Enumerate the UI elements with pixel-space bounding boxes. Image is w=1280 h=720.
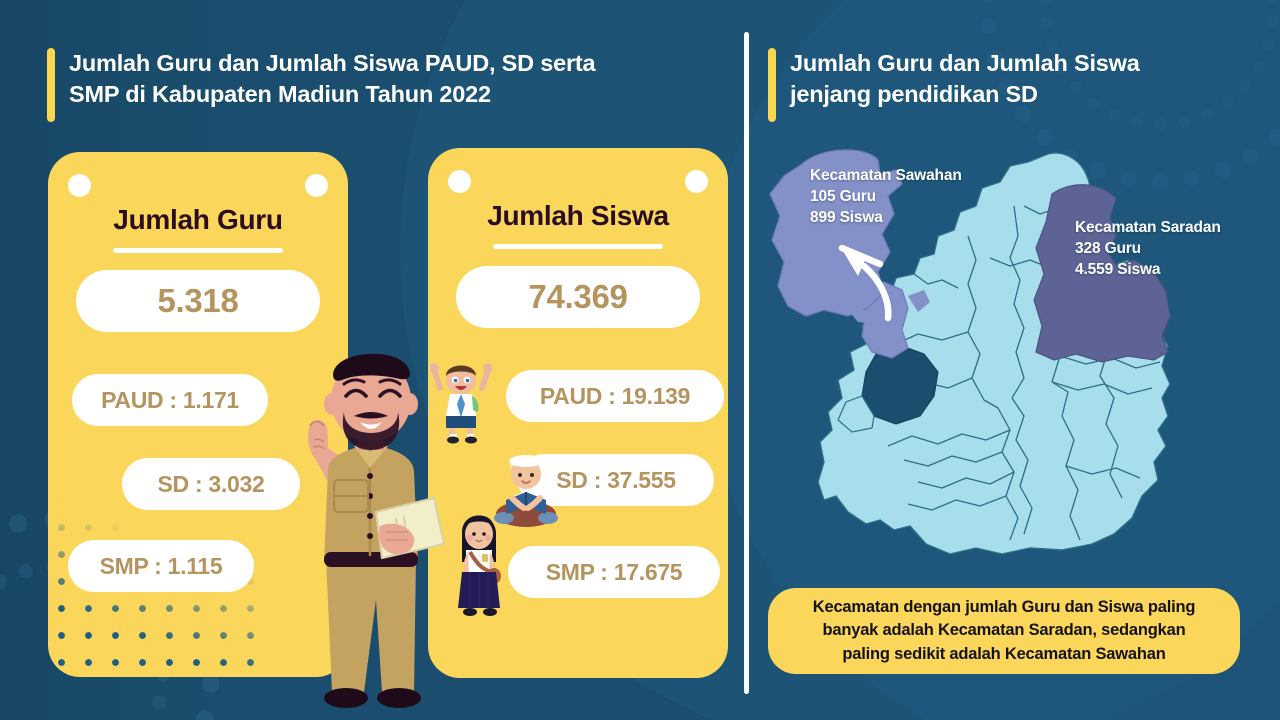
punch-hole-left-icon bbox=[68, 174, 91, 197]
panel-divider bbox=[744, 32, 749, 694]
siswa-paud-value: PAUD : 19.139 bbox=[506, 370, 724, 422]
right-panel-title-text: Jumlah Guru dan Jumlah Siswa jenjang pen… bbox=[790, 48, 1140, 111]
guru-smp-value: SMP : 1.115 bbox=[68, 540, 254, 592]
title-accent-bar bbox=[768, 48, 776, 122]
summary-note-box: Kecamatan dengan jumlah Guru dan Siswa p… bbox=[768, 588, 1240, 674]
madiun-district-map: Kecamatan Sawahan 105 Guru 899 Siswa Kec… bbox=[762, 140, 1272, 580]
title-accent-bar bbox=[47, 48, 55, 122]
map-label-saradan: Kecamatan Saradan 328 Guru 4.559 Siswa bbox=[1075, 218, 1221, 281]
right-panel-title: Jumlah Guru dan Jumlah Siswa jenjang pen… bbox=[768, 48, 1238, 122]
card-heading-underline bbox=[493, 244, 663, 249]
student-girl-illustration bbox=[448, 508, 510, 618]
map-label-sawahan: Kecamatan Sawahan 105 Guru 899 Siswa bbox=[810, 166, 962, 229]
left-panel-title: Jumlah Guru dan Jumlah Siswa PAUD, SD se… bbox=[47, 48, 707, 122]
punch-hole-left-icon bbox=[448, 170, 471, 193]
left-panel-title-text: Jumlah Guru dan Jumlah Siswa PAUD, SD se… bbox=[69, 48, 595, 111]
guru-paud-value: PAUD : 1.171 bbox=[72, 374, 268, 426]
card-heading: Jumlah Guru bbox=[48, 204, 348, 236]
punch-hole-right-icon bbox=[685, 170, 708, 193]
student-boy-raised-arms-illustration bbox=[430, 358, 492, 444]
summary-note-text: Kecamatan dengan jumlah Guru dan Siswa p… bbox=[813, 596, 1196, 665]
card-heading-underline bbox=[113, 248, 283, 253]
siswa-total-value: 74.369 bbox=[456, 266, 700, 328]
punch-hole-right-icon bbox=[305, 174, 328, 197]
infographic-canvas: Jumlah Guru dan Jumlah Siswa PAUD, SD se… bbox=[0, 0, 1280, 720]
siswa-smp-value: SMP : 17.675 bbox=[508, 546, 720, 598]
card-heading: Jumlah Siswa bbox=[428, 200, 728, 232]
